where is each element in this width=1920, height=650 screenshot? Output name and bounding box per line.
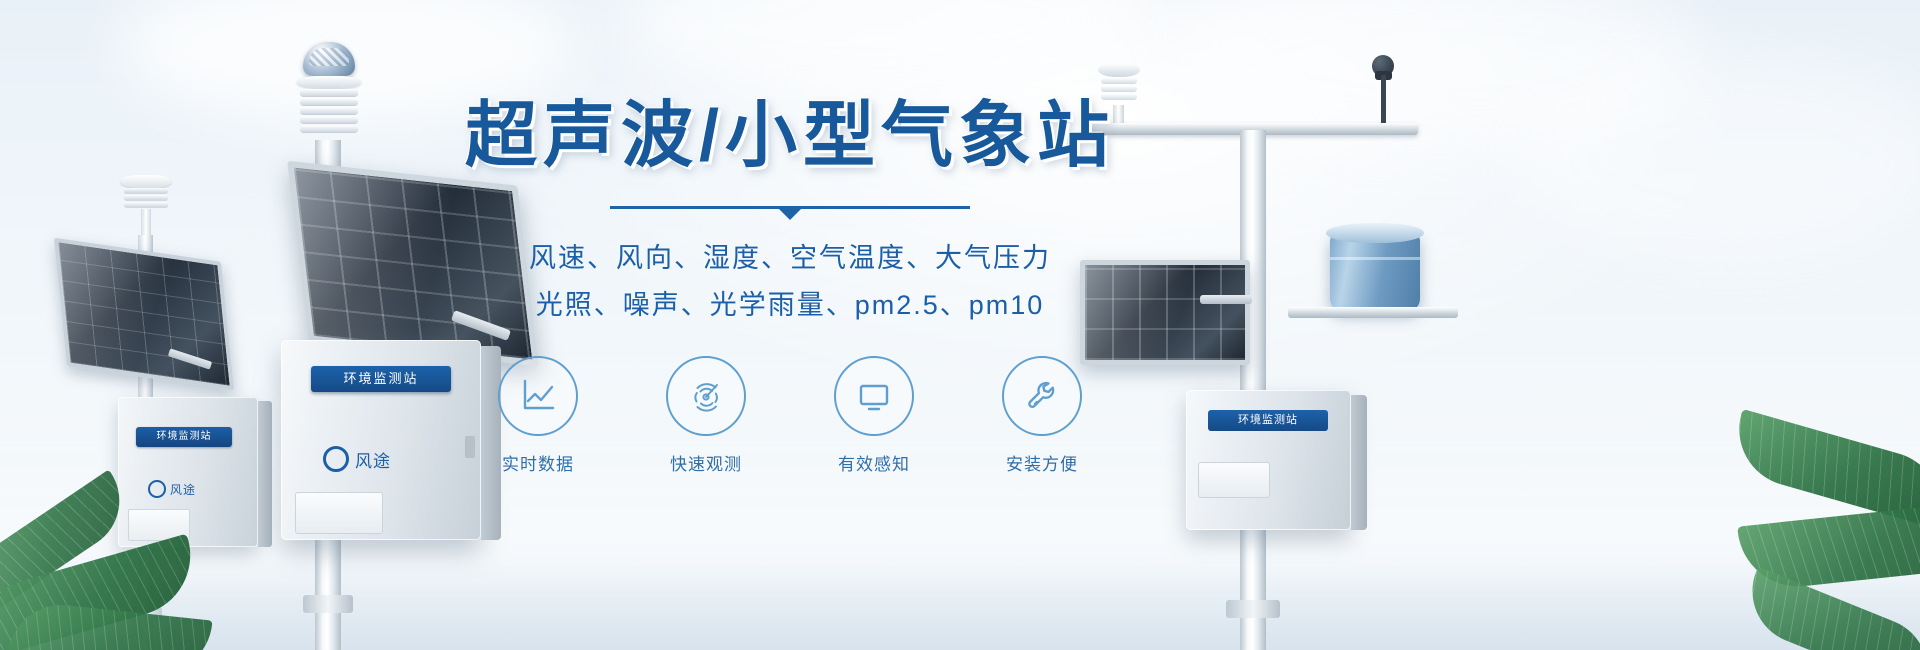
- wrench-icon: [1002, 356, 1082, 436]
- brand-mark-icon: [323, 446, 349, 472]
- banner-subtitle: 风速、风向、湿度、空气温度、大气压力 光照、噪声、光学雨量、pm2.5、pm10: [430, 235, 1150, 330]
- station-nameplate-text: 环境监测站: [1208, 410, 1328, 431]
- banner-content: 超声波/小型气象站 风速、风向、湿度、空气温度、大气压力 光照、噪声、光学雨量、…: [430, 100, 1150, 475]
- control-enclosure: 环境监测站 风途: [118, 397, 258, 547]
- cloud-decoration: [1520, 60, 1920, 260]
- brand-logo-text: 风途: [355, 447, 391, 472]
- divider-triangle-icon: [779, 209, 801, 220]
- brand-mark-icon: [148, 480, 166, 498]
- feature-item-fast-observation[interactable]: 快速观测: [652, 356, 760, 475]
- cloud-decoration: [620, 0, 1140, 100]
- total-radiation-dome-icon: [303, 42, 355, 76]
- monitor-icon: [834, 356, 914, 436]
- feature-item-effective-sensing[interactable]: 有效感知: [820, 356, 928, 475]
- title-divider: [610, 206, 970, 209]
- feature-label: 安装方便: [1006, 450, 1078, 475]
- subtitle-line-2: 光照、噪声、光学雨量、pm2.5、pm10: [430, 282, 1150, 329]
- feature-label: 快速观测: [670, 450, 742, 475]
- radar-scan-icon: [666, 356, 746, 436]
- banner-title: 超声波/小型气象站: [430, 100, 1150, 172]
- brand-logo: 风途: [148, 481, 224, 497]
- panel-mount-arm: [1200, 295, 1252, 304]
- feature-item-realtime-data[interactable]: 实时数据: [484, 356, 592, 475]
- feature-list: 实时数据 快速观测: [430, 356, 1150, 475]
- radiation-shield-sensor-icon: [118, 175, 174, 217]
- product-banner: 环境监测站 风途 环境监测站 风途: [0, 0, 1920, 650]
- enclosure-door: [1198, 462, 1270, 498]
- enclosure-door: [295, 492, 383, 534]
- station-nameplate: 环境监测站: [1208, 410, 1328, 431]
- station-nameplate-text: 环境监测站: [136, 427, 232, 447]
- subtitle-line-1: 风速、风向、湿度、空气温度、大气压力: [430, 235, 1150, 282]
- radiation-shield-sensor-icon: [297, 76, 361, 142]
- control-enclosure: 环境监测站: [1186, 390, 1351, 530]
- feature-item-easy-installation[interactable]: 安装方便: [988, 356, 1096, 475]
- rain-gauge-icon: [1330, 223, 1420, 315]
- feature-label: 有效感知: [838, 450, 910, 475]
- wind-vane-icon: [1366, 55, 1400, 125]
- station-nameplate: 环境监测站: [136, 427, 232, 447]
- feature-label: 实时数据: [502, 450, 574, 475]
- equipment-shelf: [1288, 307, 1458, 318]
- line-chart-icon: [498, 356, 578, 436]
- brand-logo: 风途: [323, 448, 443, 470]
- brand-logo-text: 风途: [170, 481, 196, 498]
